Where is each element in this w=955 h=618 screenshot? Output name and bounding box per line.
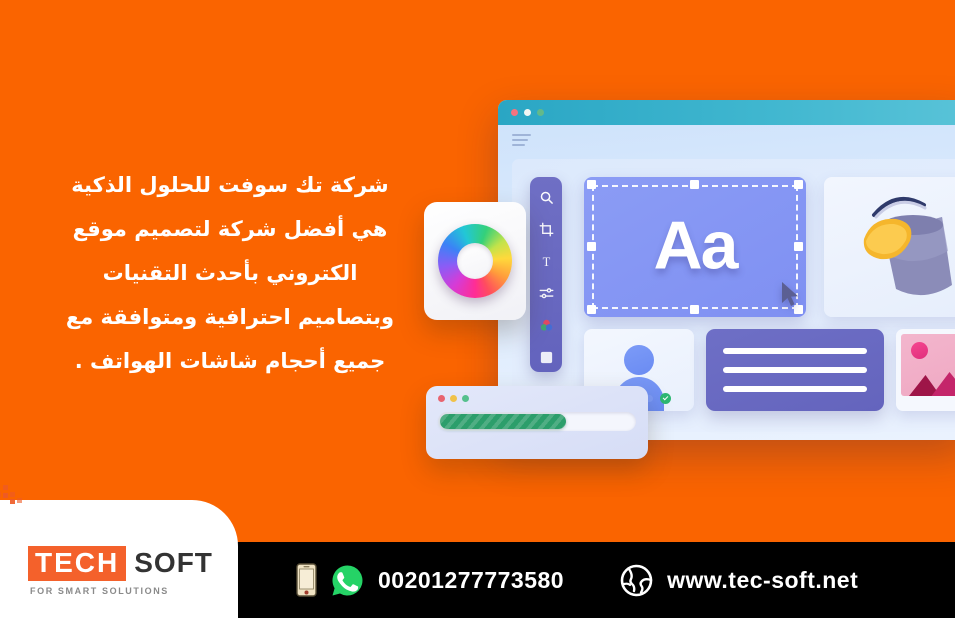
whatsapp-icon[interactable] — [331, 564, 364, 597]
headline-line-1: شركة تك سوفت للحلول الذكية — [30, 163, 430, 207]
headline-line-3: الكتروني بأحدث التقنيات — [30, 251, 430, 295]
mobile-phone-icon — [296, 563, 317, 597]
resize-handle-top-left[interactable] — [587, 180, 596, 189]
logo-tagline: FOR SMART SOLUTIONS — [30, 586, 169, 596]
crop-icon — [539, 222, 554, 237]
logo-pixel-decoration — [0, 482, 30, 504]
color-wheel-card[interactable] — [424, 202, 526, 320]
headline-line-2: هي أفضل شركة لتصميم موقع — [30, 207, 430, 251]
content-line — [723, 367, 867, 373]
image-thumbnail — [901, 334, 955, 396]
color-swatches-icon — [539, 318, 554, 333]
content-line — [723, 348, 867, 354]
content-lines-card — [706, 329, 884, 411]
logo-word-tech: TECH — [28, 546, 126, 581]
poster-canvas: شركة تك سوفت للحلول الذكية هي أفضل شركة … — [0, 0, 955, 618]
progress-window-card — [426, 386, 648, 459]
hamburger-menu-icon — [512, 134, 531, 149]
window-maximize-dot — [537, 109, 544, 116]
canvas-sample-text: Aa — [584, 206, 806, 284]
headline-line-5: جميع أحجام شاشات الهواتف . — [30, 339, 430, 383]
color-wheel-icon[interactable] — [438, 224, 512, 298]
logo-wordmark: TECH SOFT — [28, 546, 213, 581]
text-selection-box: Aa — [584, 177, 806, 317]
window-minimize-dot — [524, 109, 531, 116]
progress-minimize-dot — [450, 395, 457, 402]
search-icon — [539, 190, 554, 205]
paint-bucket-icon — [824, 177, 955, 317]
progress-bar-track — [438, 412, 636, 431]
globe-icon — [620, 564, 653, 597]
resize-handle-bottom-center[interactable] — [690, 305, 699, 314]
progress-card-traffic-lights — [438, 395, 636, 402]
image-placeholder-card — [896, 329, 955, 411]
phone-number-text[interactable]: 00201277773580 — [378, 567, 564, 594]
mouse-cursor-icon — [780, 281, 800, 307]
avatar-head — [624, 345, 654, 375]
logo-panel: TECH SOFT FOR SMART SOLUTIONS — [0, 500, 238, 618]
verified-check-icon — [660, 393, 671, 404]
headline-line-4: وبتصاميم احترافية ومتوافقة مع — [30, 295, 430, 339]
shape-icon — [539, 350, 554, 365]
progress-bar-fill — [440, 414, 566, 429]
footer-contact-row: 00201277773580 www.tec-soft.net — [296, 542, 858, 618]
website-url-text[interactable]: www.tec-soft.net — [667, 567, 858, 594]
paint-bucket-card — [824, 177, 955, 317]
window-close-dot — [511, 109, 518, 116]
tool-rail: T — [530, 177, 562, 372]
resize-handle-top-right[interactable] — [794, 180, 803, 189]
text-tool-icon: T — [539, 254, 554, 269]
content-line — [723, 386, 867, 392]
browser-titlebar — [498, 100, 955, 125]
headline-text-block: شركة تك سوفت للحلول الذكية هي أفضل شركة … — [30, 163, 430, 383]
progress-maximize-dot — [462, 395, 469, 402]
logo-word-soft: SOFT — [134, 549, 213, 581]
resize-handle-top-center[interactable] — [690, 180, 699, 189]
sun-icon — [911, 342, 928, 359]
progress-close-dot — [438, 395, 445, 402]
mountains-icon — [901, 366, 955, 396]
sliders-icon — [539, 286, 554, 301]
resize-handle-bottom-left[interactable] — [587, 305, 596, 314]
svg-text:T: T — [542, 255, 550, 269]
